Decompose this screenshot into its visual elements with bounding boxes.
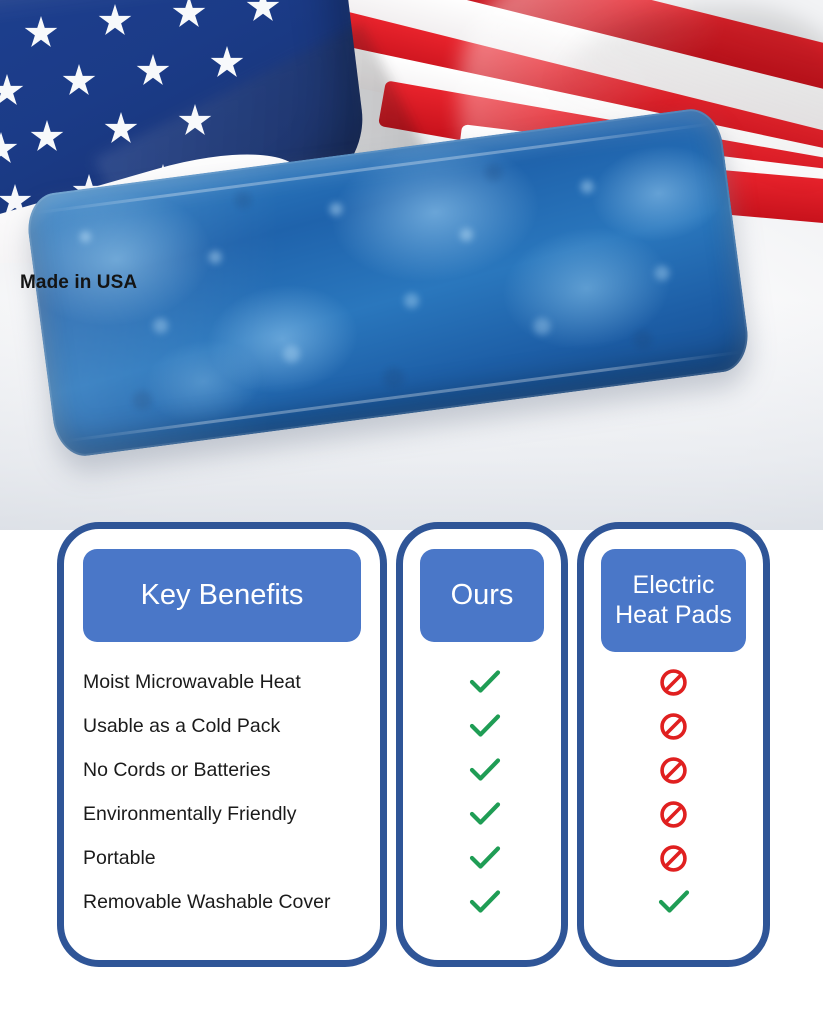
prohibited-icon: [659, 756, 688, 785]
benefit-list: Moist Microwavable Heat Usable as a Cold…: [83, 660, 373, 924]
check-icon: [469, 713, 501, 739]
check-icon: [469, 669, 501, 695]
check-icon: [469, 845, 501, 871]
column-header-ours: Ours: [420, 549, 544, 642]
benefit-row: Usable as a Cold Pack: [83, 704, 373, 748]
mark-cell: [403, 836, 561, 880]
benefit-row: Portable: [83, 836, 373, 880]
mark-cell: [584, 748, 763, 792]
check-icon: [469, 801, 501, 827]
mark-cell: [584, 880, 763, 924]
mark-cell: [584, 836, 763, 880]
benefit-row: Environmentally Friendly: [83, 792, 373, 836]
column-header-line2: Heat Pads: [615, 601, 732, 629]
benefit-row: No Cords or Batteries: [83, 748, 373, 792]
check-icon: [469, 889, 501, 915]
mark-cell: [403, 660, 561, 704]
product-infographic: Made in USA Key Benefits Moist Microwava…: [0, 0, 823, 1033]
mark-cell: [403, 792, 561, 836]
electric-mark-list: [584, 660, 763, 924]
column-header-line1: Electric: [633, 571, 715, 599]
column-header-key-benefits: Key Benefits: [83, 549, 361, 642]
prohibited-icon: [659, 712, 688, 741]
ours-mark-list: [403, 660, 561, 924]
mark-cell: [584, 704, 763, 748]
comparison-column-electric-heat-pads: Electric Heat Pads: [577, 522, 770, 967]
made-in-usa-label: Made in USA: [20, 272, 137, 294]
check-icon: [469, 757, 501, 783]
product-photo: Made in USA: [0, 0, 823, 530]
mark-cell: [584, 660, 763, 704]
comparison-column-ours: Ours: [396, 522, 568, 967]
prohibited-icon: [659, 800, 688, 829]
prohibited-icon: [659, 668, 688, 697]
check-icon: [658, 889, 690, 915]
mark-cell: [403, 880, 561, 924]
column-header-electric-heat-pads: Electric Heat Pads: [601, 549, 746, 652]
mark-cell: [584, 792, 763, 836]
mark-cell: [403, 704, 561, 748]
comparison-column-benefits: Key Benefits Moist Microwavable Heat Usa…: [57, 522, 387, 967]
prohibited-icon: [659, 844, 688, 873]
mark-cell: [403, 748, 561, 792]
benefit-row: Removable Washable Cover: [83, 880, 373, 924]
benefit-row: Moist Microwavable Heat: [83, 660, 373, 704]
